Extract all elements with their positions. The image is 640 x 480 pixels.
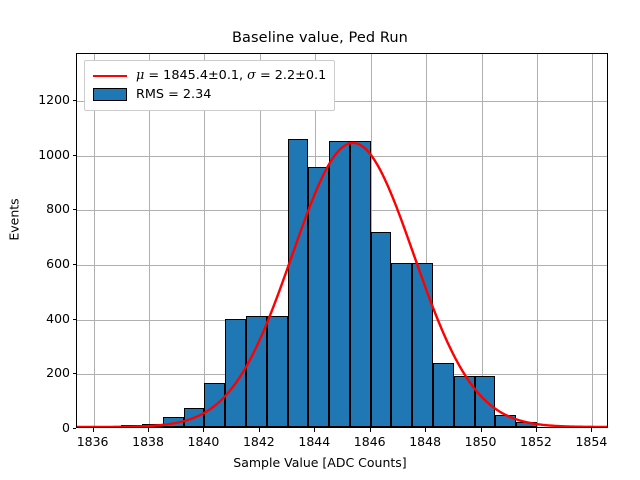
legend-label-fit: μ = 1845.4±0.1, σ = 2.2±0.1 (136, 68, 326, 83)
x-axis-label: Sample Value [ADC Counts] (0, 455, 640, 470)
x-tick-mark (591, 428, 592, 432)
x-tick-mark (203, 428, 204, 432)
x-tick-mark (148, 428, 149, 432)
x-tick-label: 1836 (63, 434, 123, 449)
y-tick-mark (73, 100, 77, 101)
y-tick-label: 1200 (10, 92, 70, 107)
y-axis-label: Events (7, 120, 22, 320)
x-tick-mark (370, 428, 371, 432)
y-tick-label: 200 (10, 365, 70, 380)
x-tick-label: 1852 (506, 434, 566, 449)
x-tick-label: 1850 (451, 434, 511, 449)
legend-entry-fit: μ = 1845.4±0.1, σ = 2.2±0.1 (93, 66, 326, 85)
legend-label-rms: RMS = 2.34 (136, 87, 211, 102)
x-tick-mark (93, 428, 94, 432)
x-tick-mark (314, 428, 315, 432)
y-tick-label: 0 (10, 420, 70, 435)
legend-line-icon (93, 75, 127, 77)
x-tick-label: 1838 (118, 434, 178, 449)
x-tick-label: 1854 (561, 434, 621, 449)
x-tick-label: 1846 (340, 434, 400, 449)
x-tick-mark (481, 428, 482, 432)
legend-patch-icon (93, 88, 127, 101)
chart-legend: μ = 1845.4±0.1, σ = 2.2±0.1 RMS = 2.34 (84, 60, 335, 111)
y-tick-mark (73, 373, 77, 374)
y-tick-mark (73, 209, 77, 210)
y-tick-mark (73, 319, 77, 320)
y-tick-mark (73, 264, 77, 265)
x-tick-label: 1848 (395, 434, 455, 449)
x-tick-mark (536, 428, 537, 432)
y-tick-mark (73, 428, 77, 429)
x-tick-mark (425, 428, 426, 432)
chart-title: Baseline value, Ped Run (0, 30, 640, 46)
histogram-figure: Baseline value, Ped Run 1836183818401842… (0, 0, 640, 480)
x-tick-mark (259, 428, 260, 432)
legend-entry-rms: RMS = 2.34 (93, 85, 326, 104)
x-tick-label: 1844 (284, 434, 344, 449)
y-tick-mark (73, 155, 77, 156)
x-tick-label: 1840 (173, 434, 233, 449)
x-tick-label: 1842 (229, 434, 289, 449)
